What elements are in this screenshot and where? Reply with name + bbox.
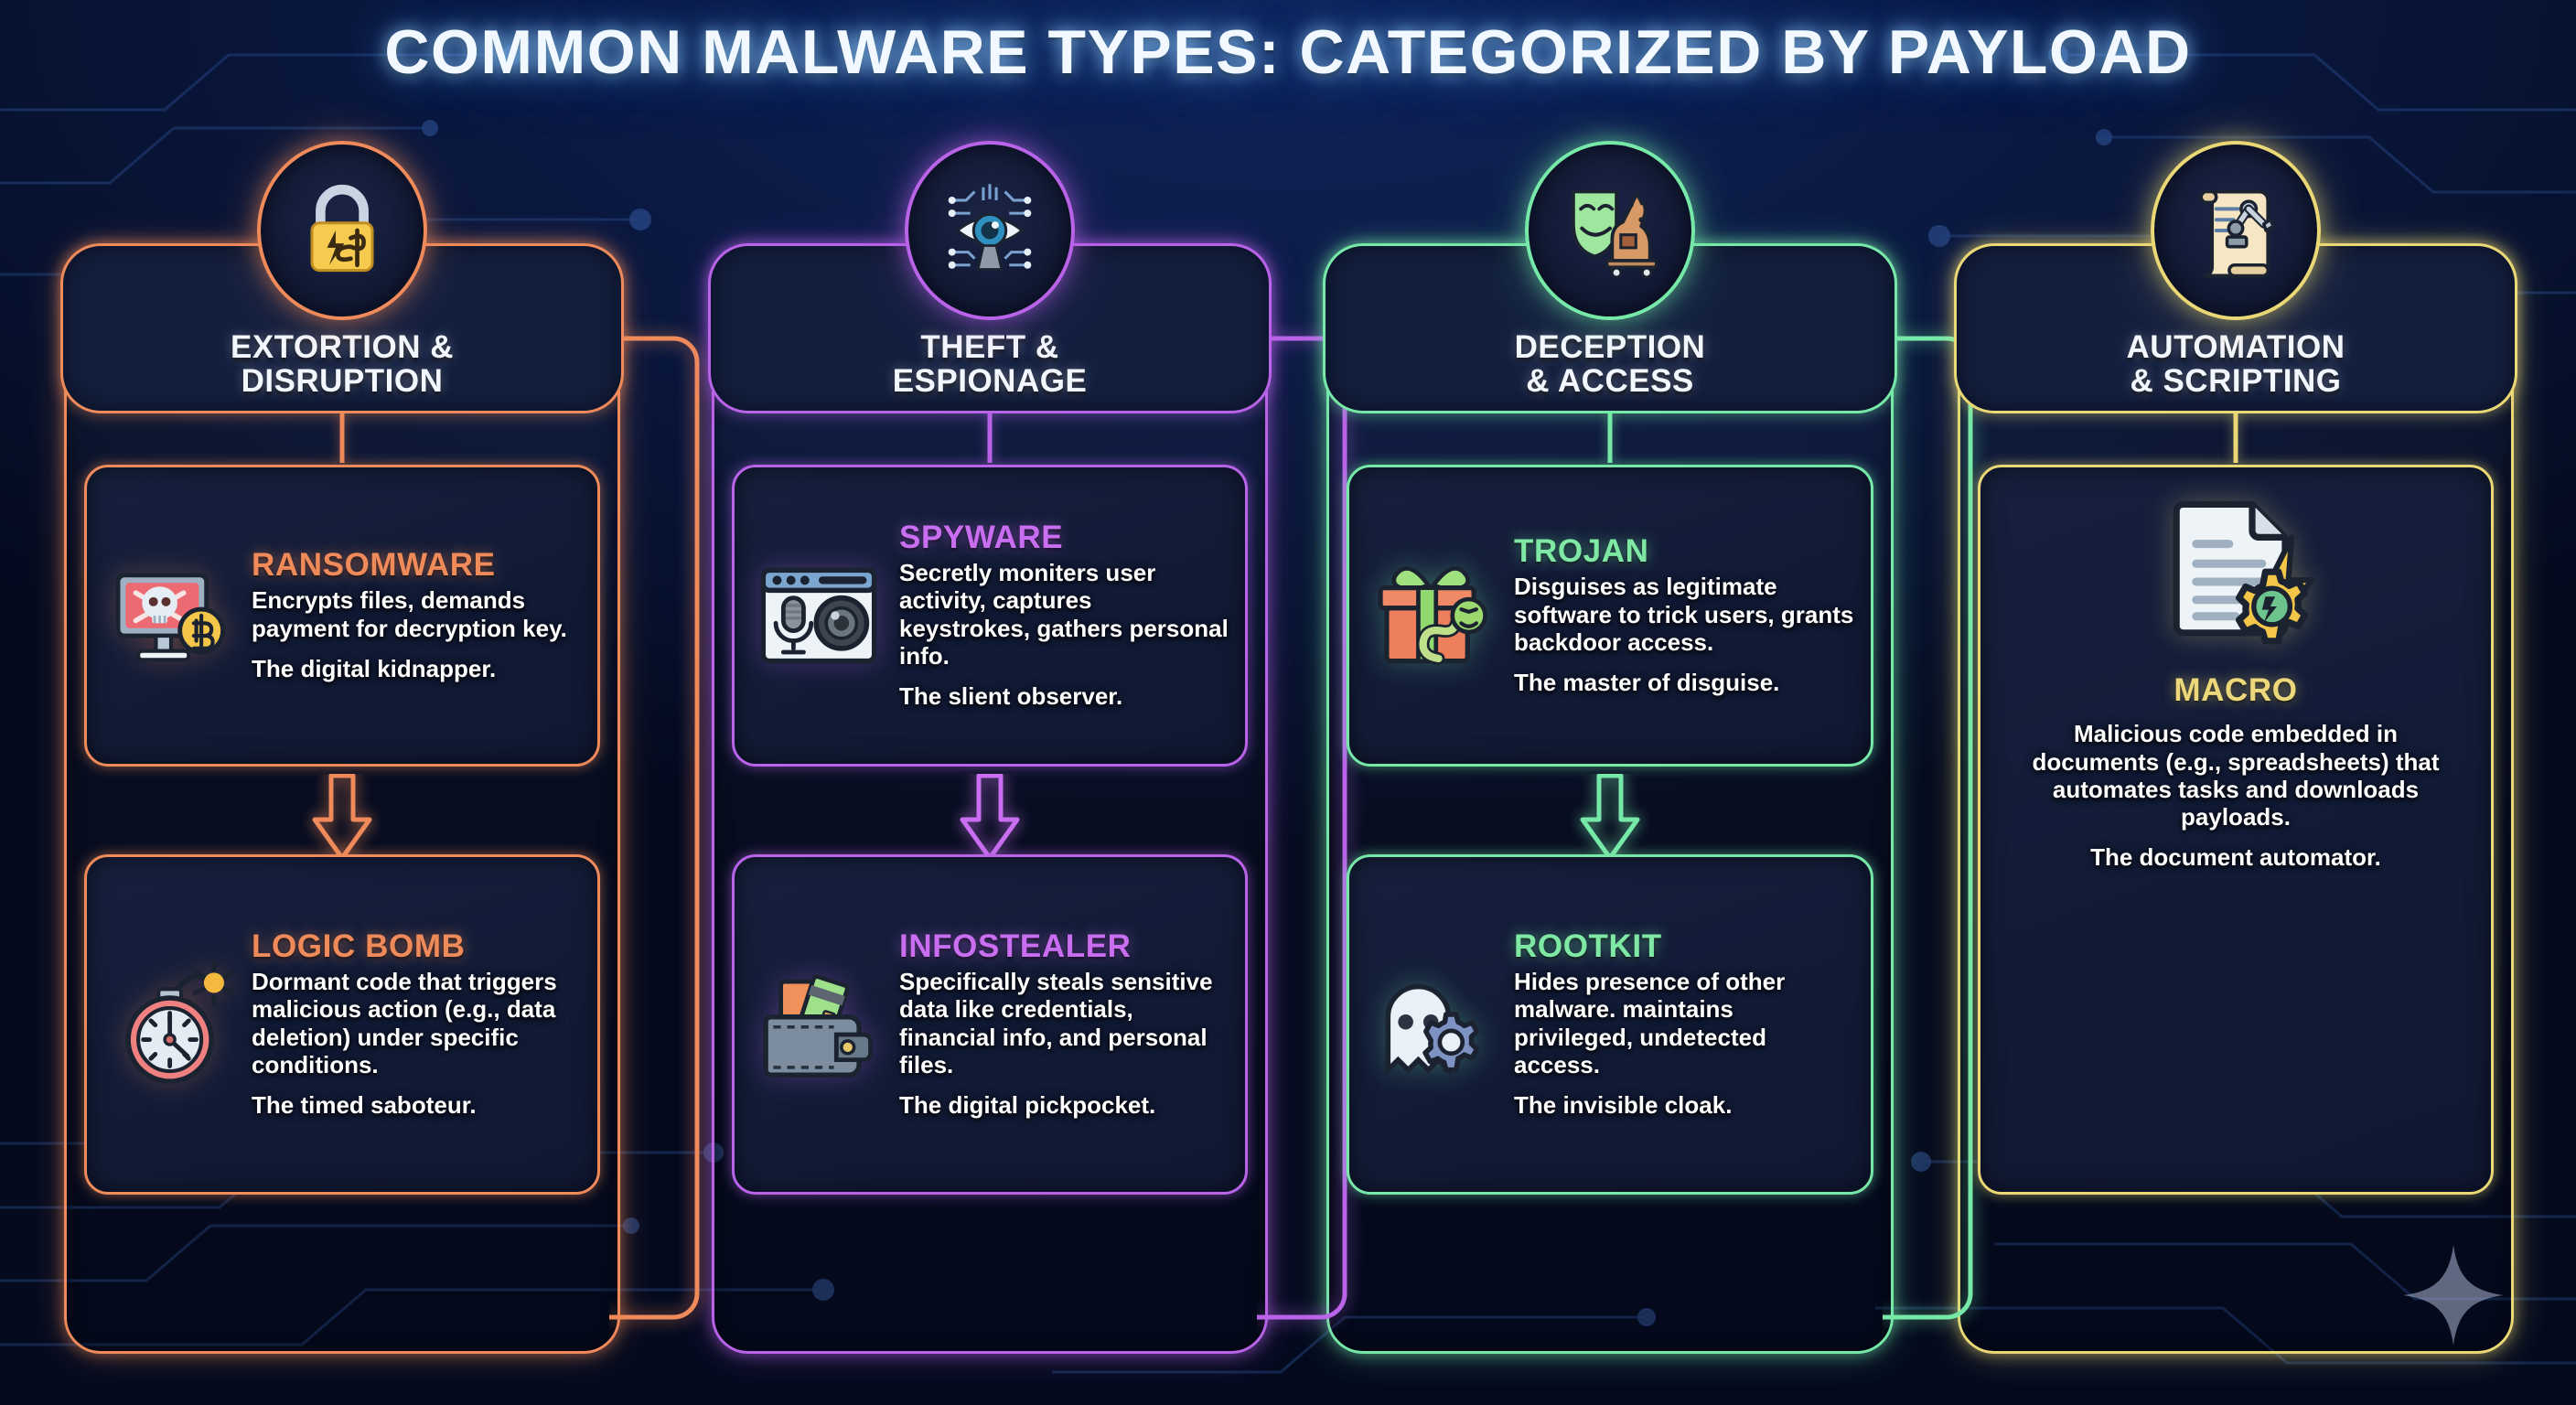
column-connector-loop <box>609 311 719 1372</box>
malware-tagline: The timed saboteur. <box>252 1091 581 1119</box>
malware-card-trojan[interactable]: TROJAN Disguises as legitimate software … <box>1347 465 1873 767</box>
category-column-theft-espionage: THEFT & ESPIONAGE <box>712 247 1268 1354</box>
malware-description: Secretly moniters user activity, capture… <box>899 559 1229 670</box>
malware-card-logic-bomb[interactable]: LOGIC BOMB Dormant code that triggers ma… <box>84 854 600 1195</box>
malware-name: MACRO <box>2008 674 2463 707</box>
connector-stem <box>1608 413 1613 463</box>
flow-arrow-down-icon <box>1571 774 1649 862</box>
malware-description: Disguises as legitimate software to tric… <box>1514 573 1854 655</box>
malware-card-spyware[interactable]: SPYWARE Secretly moniters user activity,… <box>732 465 1248 767</box>
skull-monitor-bitcoin-icon <box>103 548 239 683</box>
malware-description: Encrypts files, demands payment for decr… <box>252 586 581 641</box>
flow-arrow-down-icon <box>303 774 381 862</box>
malware-tagline: The document automator. <box>2008 843 2463 871</box>
malware-name: ROOTKIT <box>1514 930 1854 963</box>
wallet-credit-cards-icon <box>751 957 886 1092</box>
malware-card-infostealer[interactable]: INFOSTEALER Specifically steals sensitiv… <box>732 854 1248 1195</box>
malware-tagline: The digital kidnapper. <box>252 655 581 682</box>
malware-description: Malicious code embedded in documents (e.… <box>2008 720 2463 831</box>
connector-stem <box>988 413 993 463</box>
browser-microphone-camera-icon <box>751 548 886 683</box>
card-body: LOGIC BOMB Dormant code that triggers ma… <box>252 930 581 1119</box>
column-title: DECEPTION & ACCESS <box>1515 330 1706 398</box>
connector-stem <box>340 413 345 463</box>
column-title: AUTOMATION & SCRIPTING <box>2127 330 2345 398</box>
columns-board: EXTORTION & DISRUPTION <box>0 146 2576 1405</box>
malware-card-ransomware[interactable]: RANSOMWARE Encrypts files, demands payme… <box>84 465 600 767</box>
malware-card-rootkit[interactable]: ROOTKIT Hides presence of other malware.… <box>1347 854 1873 1195</box>
malware-tagline: The digital pickpocket. <box>899 1091 1229 1119</box>
broken-padlock-dollar-icon <box>257 141 427 320</box>
malware-name: TROJAN <box>1514 535 1854 568</box>
malware-description: Specifically steals sensitive data like … <box>899 968 1229 1078</box>
connector-stem <box>2234 413 2238 463</box>
category-column-automation-scripting: AUTOMATION & SCRIPTING <box>1958 247 2514 1354</box>
card-body: TROJAN Disguises as legitimate software … <box>1514 535 1854 696</box>
malware-name: INFOSTEALER <box>899 930 1229 963</box>
page-title: COMMON MALWARE TYPES: CATEGORIZED BY PAY… <box>0 16 2576 88</box>
card-body: ROOTKIT Hides presence of other malware.… <box>1514 930 1854 1119</box>
malware-tagline: The master of disguise. <box>1514 669 1854 696</box>
malware-name: RANSOMWARE <box>252 549 581 582</box>
malware-description: Dormant code that triggers malicious act… <box>252 968 581 1078</box>
bomb-clock-icon <box>103 957 239 1092</box>
card-body: SPYWARE Secretly moniters user activity,… <box>899 521 1229 710</box>
malware-card-macro[interactable]: MACRO Malicious code embedded in documen… <box>1978 465 2494 1195</box>
card-body: MACRO Malicious code embedded in documen… <box>2008 674 2463 1168</box>
scroll-robot-arm-icon <box>2151 141 2321 320</box>
theater-mask-trojan-horse-icon <box>1525 141 1695 320</box>
flow-arrow-down-icon <box>950 774 1029 862</box>
cyber-eye-keyhole-icon <box>905 141 1075 320</box>
category-column-extortion-disruption: EXTORTION & DISRUPTION <box>64 247 620 1354</box>
column-title: EXTORTION & DISRUPTION <box>231 330 454 398</box>
column-title: THEFT & ESPIONAGE <box>893 330 1088 398</box>
malware-description: Hides presence of other malware. maintai… <box>1514 968 1854 1078</box>
category-column-deception-access: DECEPTION & ACCESS <box>1326 247 1894 1354</box>
card-body: RANSOMWARE Encrypts files, demands payme… <box>252 549 581 682</box>
document-gear-bolt-icon <box>2153 491 2318 656</box>
card-body: INFOSTEALER Specifically steals sensitiv… <box>899 930 1229 1119</box>
malware-name: LOGIC BOMB <box>252 930 581 963</box>
gift-box-worm-icon <box>1366 548 1501 683</box>
ghost-gear-icon <box>1366 957 1501 1092</box>
malware-tagline: The invisible cloak. <box>1514 1091 1854 1119</box>
malware-name: SPYWARE <box>899 521 1229 554</box>
malware-tagline: The slient observer. <box>899 682 1229 710</box>
